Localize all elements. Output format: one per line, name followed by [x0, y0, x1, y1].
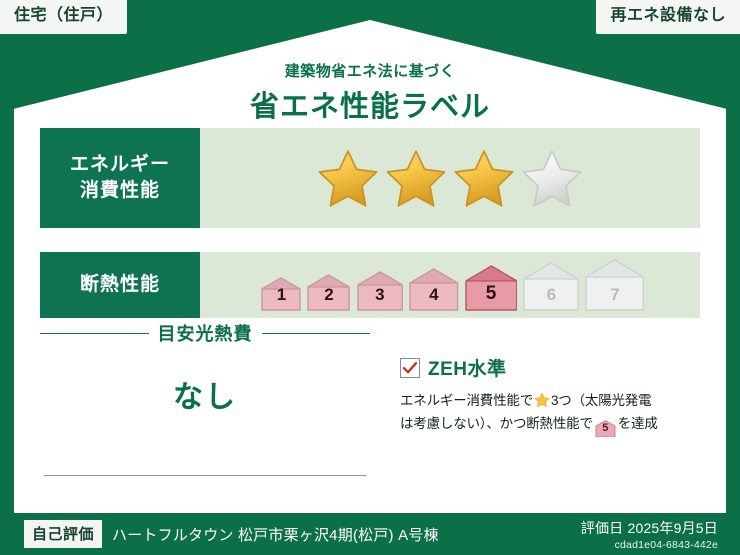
- insulation-performance-body: 1234567: [200, 252, 700, 318]
- zeh-desc-part2: は考慮しない）、かつ断熱性能で: [400, 416, 593, 431]
- check-icon: [403, 362, 417, 374]
- zeh-desc-part3: を達成: [618, 416, 658, 431]
- zeh-description: エネルギー消費性能で 3つ（太陽光発電は考慮しない）、かつ断熱性能で 5 を達成: [400, 390, 700, 436]
- utility-cost-underline: [44, 475, 366, 476]
- insulation-performance-row: 断熱性能 1234567: [40, 252, 700, 318]
- insulation-level-value: 5: [486, 283, 497, 311]
- zeh-desc-part1: エネルギー消費性能で: [400, 393, 533, 408]
- evaluation-date: 評価日 2025年9月5日: [581, 518, 718, 538]
- utility-cost-value: なし: [40, 372, 370, 416]
- label-title: 省エネ性能ラベル: [14, 83, 726, 125]
- renewable-energy-chip: 再エネ設備なし: [596, 0, 740, 34]
- zeh-title: ZEH水準: [428, 354, 507, 381]
- energy-performance-row: エネルギー 消費性能: [40, 128, 700, 228]
- insulation-level-4[interactable]: 4: [409, 268, 459, 311]
- star-icon-filled: [453, 148, 515, 208]
- footer: 自己評価 ハートフルタウン 松戸市栗ヶ沢4期(松戸) A号棟 評価日 2025年…: [0, 513, 740, 555]
- insulation-level-7[interactable]: 7: [585, 259, 644, 311]
- energy-performance-label-line1: エネルギー: [70, 154, 170, 175]
- insulation-level-value: 3: [375, 285, 384, 311]
- inline-star-icon: [534, 392, 550, 408]
- zeh-desc-star-count: 3つ（太陽光発電: [551, 393, 651, 408]
- energy-label-root: 住宅（住戸） 再エネ設備なし 建築物省エネ法に基づく 省エネ性能ラベル エネルギ…: [0, 0, 740, 555]
- insulation-level-6[interactable]: 6: [523, 262, 579, 311]
- heading-rule-right: [262, 333, 371, 334]
- insulation-performance-label: 断熱性能: [40, 252, 200, 318]
- insulation-level-value: 1: [277, 285, 286, 311]
- zeh-block: ZEH水準 エネルギー消費性能で 3つ（太陽光発電は考慮しない）、かつ断熱性能で…: [400, 354, 700, 436]
- energy-performance-body: [200, 128, 700, 228]
- star-rating: [317, 148, 583, 208]
- zeh-checkbox[interactable]: [400, 358, 420, 378]
- insulation-level-value: 2: [324, 285, 333, 311]
- insulation-level-value: 7: [610, 285, 619, 311]
- heading-rule-left: [40, 333, 149, 334]
- utility-cost-heading: 目安光熱費: [158, 320, 253, 346]
- insulation-level-1[interactable]: 1: [261, 277, 301, 311]
- label-card: 建築物省エネ法に基づく 省エネ性能ラベル エネルギー 消費性能 断熱性能: [14, 20, 726, 513]
- insulation-level-value: 6: [547, 285, 556, 311]
- insulation-level-5[interactable]: 5: [465, 265, 518, 311]
- insulation-level-scale: 1234567: [255, 259, 644, 311]
- footer-meta: 評価日 2025年9月5日 cdad1e04-6843-442e: [581, 518, 718, 551]
- insulation-level-value: 4: [429, 285, 438, 311]
- evaluation-id: cdad1e04-6843-442e: [581, 539, 718, 551]
- inline-house-badge: 5: [595, 420, 616, 436]
- star-icon-filled: [385, 148, 447, 208]
- utility-cost-heading-row: 目安光熱費: [40, 320, 370, 346]
- project-name: ハートフルタウン 松戸市栗ヶ沢4期(松戸) A号棟: [112, 524, 439, 545]
- zeh-title-row: ZEH水準: [400, 354, 700, 381]
- star-icon-filled: [317, 148, 379, 208]
- insulation-level-3[interactable]: 3: [357, 271, 403, 311]
- energy-performance-label: エネルギー 消費性能: [40, 128, 200, 228]
- energy-performance-label-line2: 消費性能: [80, 180, 160, 201]
- insulation-level-2[interactable]: 2: [307, 274, 350, 311]
- building-type-chip: 住宅（住戸）: [0, 0, 127, 34]
- self-evaluation-badge: 自己評価: [24, 520, 102, 548]
- inline-house-value: 5: [595, 420, 616, 437]
- label-subtitle: 建築物省エネ法に基づく: [14, 60, 726, 81]
- star-icon-empty: [521, 148, 583, 208]
